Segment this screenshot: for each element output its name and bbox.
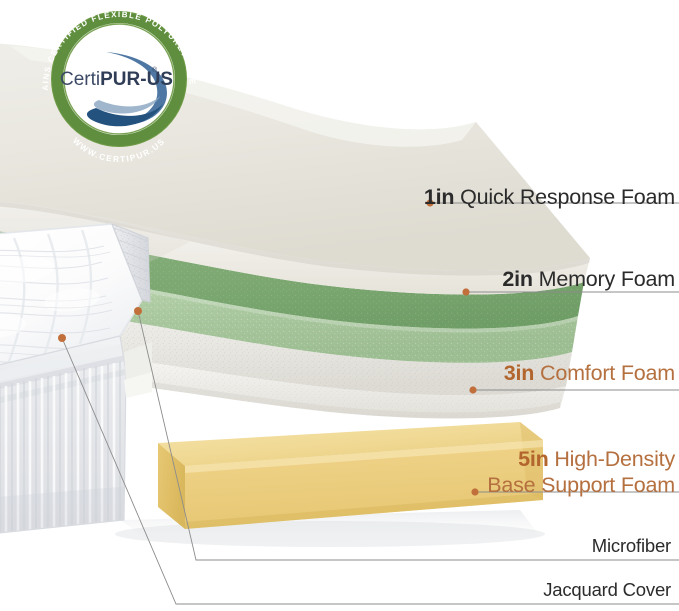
label-base-support-thickness: 5in xyxy=(518,447,548,471)
dot-jacquard-cover xyxy=(58,334,66,342)
label-base-support-foam: 5in High-Density Base Support Foam xyxy=(487,446,675,498)
dot-microfiber xyxy=(134,307,142,315)
seal-registered-mark: ® xyxy=(152,66,158,74)
label-microfiber: Microfiber xyxy=(592,535,671,558)
label-base-support-name: High-Density xyxy=(549,447,675,471)
label-comfort-foam-name: Comfort Foam xyxy=(534,361,675,385)
label-jacquard-cover: Jacquard Cover xyxy=(543,579,671,602)
diagram-artwork: CONTAINS CERTIFIED FLEXIBLE POLYURETHANE… xyxy=(0,0,679,611)
label-comfort-foam: 3in Comfort Foam xyxy=(504,360,675,386)
dot-memory-foam xyxy=(462,288,469,295)
label-quick-response-foam: 1in Quick Response Foam xyxy=(424,184,675,210)
mattress-cutaway xyxy=(0,224,154,545)
label-base-support-line1: 5in High-Density xyxy=(487,446,675,472)
mattress-layer-diagram: CONTAINS CERTIFIED FLEXIBLE POLYURETHANE… xyxy=(0,0,679,611)
label-memory-foam: 2in Memory Foam xyxy=(502,266,675,292)
label-base-support-line2: Base Support Foam xyxy=(487,472,675,498)
label-comfort-foam-thickness: 3in xyxy=(504,361,534,385)
label-memory-foam-thickness: 2in xyxy=(502,267,532,291)
dot-comfort-foam xyxy=(469,386,476,393)
label-memory-foam-name: Memory Foam xyxy=(533,267,675,291)
label-quick-response-thickness: 1in xyxy=(424,185,454,209)
dot-base-support xyxy=(471,488,478,495)
label-quick-response-name: Quick Response Foam xyxy=(454,185,675,209)
